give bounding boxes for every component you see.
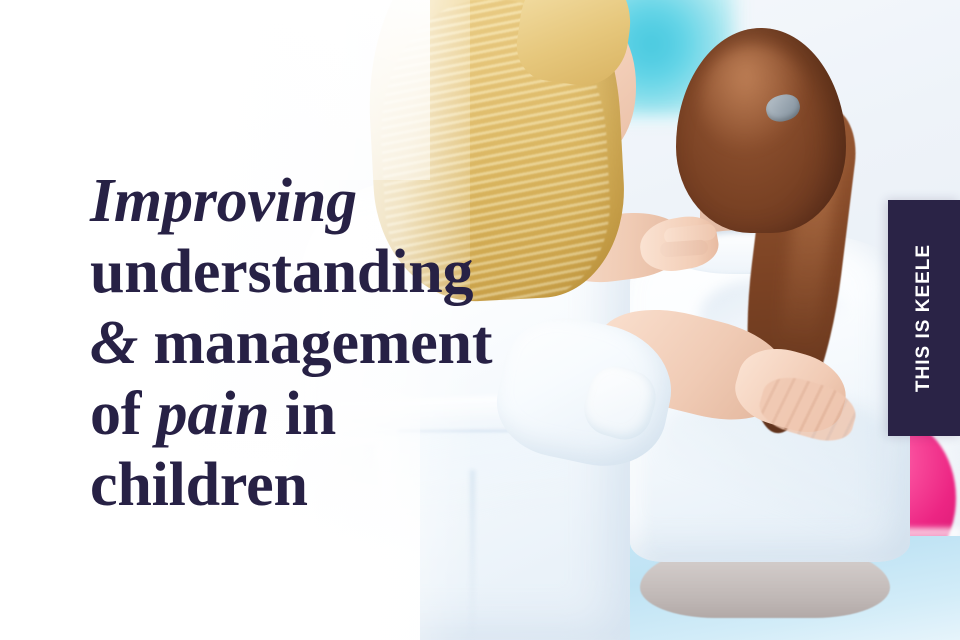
this-is-keele-badge[interactable]: THIS IS KEELE [888,200,960,436]
topleft-white-fade [0,0,430,180]
headline-ampersand: & [90,309,138,377]
headline-line-3: & management [90,308,650,379]
headline-improving: Improving [90,167,357,235]
headline-line-2: understanding [90,237,650,308]
headline-line-4: of pain in [90,379,650,450]
page-title: Improving understanding & management of … [90,166,650,521]
keele-pain-banner: Improving understanding & management of … [0,0,960,640]
headline-line-1: Improving [90,166,650,237]
headline-line-5: children [90,450,650,521]
headline-management: management [138,309,492,377]
this-is-keele-label: THIS IS KEELE [913,244,935,392]
headline-pain: pain [157,380,270,448]
headline-in: in [269,380,336,448]
headline-of: of [90,380,157,448]
